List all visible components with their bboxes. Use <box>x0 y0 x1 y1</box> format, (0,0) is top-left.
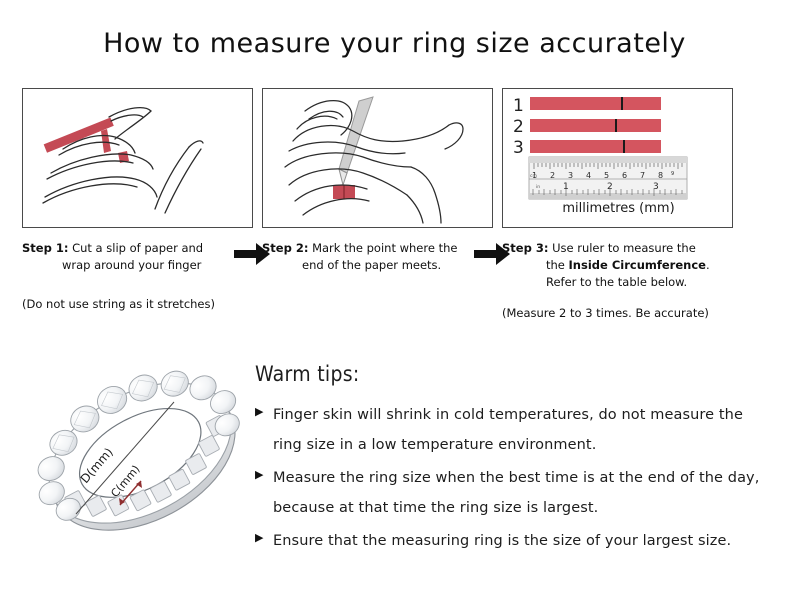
step-1-text-line2: wrap around your finger <box>22 257 253 274</box>
ruler-unit-caption: millimetres (mm) <box>503 201 733 216</box>
svg-text:cm: cm <box>530 174 537 179</box>
step-1-caption: Step 1: Cut a slip of paper and wrap aro… <box>22 240 253 274</box>
bullet-triangle-icon: ▶ <box>255 400 273 417</box>
step-1-column: Step 1: Cut a slip of paper and wrap aro… <box>22 88 255 312</box>
step-2-text-line2: end of the paper meets. <box>262 257 493 274</box>
svg-text:8: 8 <box>658 171 663 180</box>
hand-with-paper-strip-icon <box>23 89 253 228</box>
ring-figure: D(mm) C(mm) <box>28 352 260 567</box>
step-1-label: Step 1: <box>22 241 68 255</box>
arrow-step1-to-step2-icon <box>232 240 272 268</box>
bullet-triangle-icon: ▶ <box>255 526 273 543</box>
step-3-text-line2-post: . <box>706 258 710 272</box>
warm-tips-section: Warm tips: ▶ Finger skin will shrink in … <box>255 362 765 559</box>
hand-marking-paper-icon <box>263 89 493 228</box>
step-3-text-line2-pre: the <box>546 258 569 272</box>
svg-text:in: in <box>536 184 540 190</box>
tip-item: ▶ Finger skin will shrink in cold temper… <box>255 400 765 460</box>
svg-text:9: 9 <box>671 171 674 177</box>
tip-item: ▶ Measure the ring size when the best ti… <box>255 463 765 523</box>
step-2-text-line1: Mark the point where the <box>312 241 457 255</box>
svg-text:3: 3 <box>513 138 524 158</box>
tip-text: Measure the ring size when the best time… <box>273 463 765 523</box>
step-3-text-inside-circumference: Inside Circumference <box>569 258 706 272</box>
svg-text:5: 5 <box>604 171 609 180</box>
step-3-text-line1: Use ruler to measure the <box>552 241 696 255</box>
svg-text:7: 7 <box>640 171 645 180</box>
tip-text: Finger skin will shrink in cold temperat… <box>273 400 765 460</box>
step-2-column: Step 2: Mark the point where the end of … <box>262 88 495 274</box>
svg-text:6: 6 <box>622 171 627 180</box>
step-3-text-line3: Refer to the table below. <box>502 274 733 291</box>
warm-tips-heading: Warm tips: <box>255 362 765 386</box>
step-1-text-line1: Cut a slip of paper and <box>72 241 203 255</box>
step-1-note: (Do not use string as it stretches) <box>22 296 262 312</box>
tip-item: ▶ Ensure that the measuring ring is the … <box>255 526 765 556</box>
svg-text:4: 4 <box>586 171 591 180</box>
arrow-step2-to-step3-icon <box>472 240 512 268</box>
steps-row: Step 1: Cut a slip of paper and wrap aro… <box>0 88 789 338</box>
svg-text:2: 2 <box>550 171 555 180</box>
bullet-triangle-icon: ▶ <box>255 463 273 480</box>
step-2-caption: Step 2: Mark the point where the end of … <box>262 240 493 274</box>
diamond-eternity-ring-icon: D(mm) C(mm) <box>28 352 260 567</box>
step-3-caption: Step 3: Use ruler to measure the the Ins… <box>502 240 733 291</box>
step-2-panel <box>262 88 493 228</box>
svg-text:3: 3 <box>568 171 573 180</box>
tip-text: Ensure that the measuring ring is the si… <box>273 526 765 556</box>
step-3-note: (Measure 2 to 3 times. Be accurate) <box>502 305 742 321</box>
page-title: How to measure your ring size accurately <box>0 28 789 59</box>
step-3-panel: 1 2 3 <box>502 88 733 228</box>
step-3-column: 1 2 3 <box>502 88 735 321</box>
svg-text:1: 1 <box>513 96 524 116</box>
svg-text:2: 2 <box>513 117 524 137</box>
step-1-panel <box>22 88 253 228</box>
